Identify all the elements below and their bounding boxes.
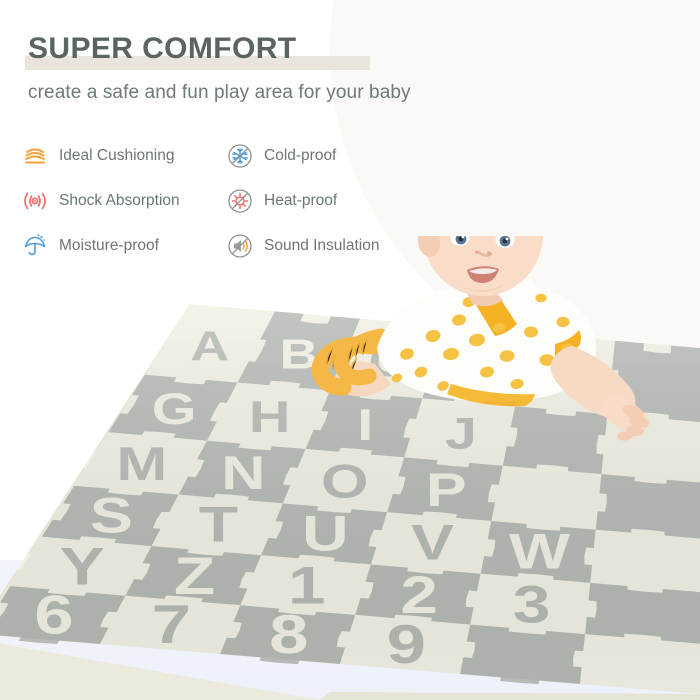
page-title: SUPER COMFORT [28, 34, 700, 64]
feature-sound-insulation: Sound Insulation [225, 223, 430, 268]
feature-label: Shock Absorption [59, 192, 180, 210]
feature-cold-proof: Cold-proof [225, 133, 430, 178]
baby-photo [255, 236, 675, 466]
feature-list: Ideal Cushioning Cold-proof [20, 133, 430, 268]
sun-no-icon [225, 186, 255, 216]
snowflake-no-icon [225, 141, 255, 171]
product-marketing-image: ABCDGHIJMNOPSTUVWYZ1236789 [0, 0, 700, 700]
feature-label: Heat-proof [264, 192, 337, 210]
feature-shock-absorption: Shock Absorption [20, 178, 225, 223]
feature-ideal-cushioning: Ideal Cushioning [20, 133, 225, 178]
speaker-no-icon [225, 231, 255, 261]
feature-moisture-proof: Moisture-proof [20, 223, 225, 268]
cushion-layers-icon [20, 141, 50, 171]
feature-heat-proof: Heat-proof [225, 178, 430, 223]
feature-label: Ideal Cushioning [59, 147, 174, 165]
feature-label: Sound Insulation [264, 237, 379, 255]
header-block: SUPER COMFORT create a safe and fun play… [0, 0, 700, 104]
page-subtitle: create a safe and fun play area for your… [0, 82, 700, 104]
feature-label: Moisture-proof [59, 237, 159, 255]
feature-label: Cold-proof [264, 147, 336, 165]
umbrella-icon [20, 231, 50, 261]
vibration-icon [20, 186, 50, 216]
